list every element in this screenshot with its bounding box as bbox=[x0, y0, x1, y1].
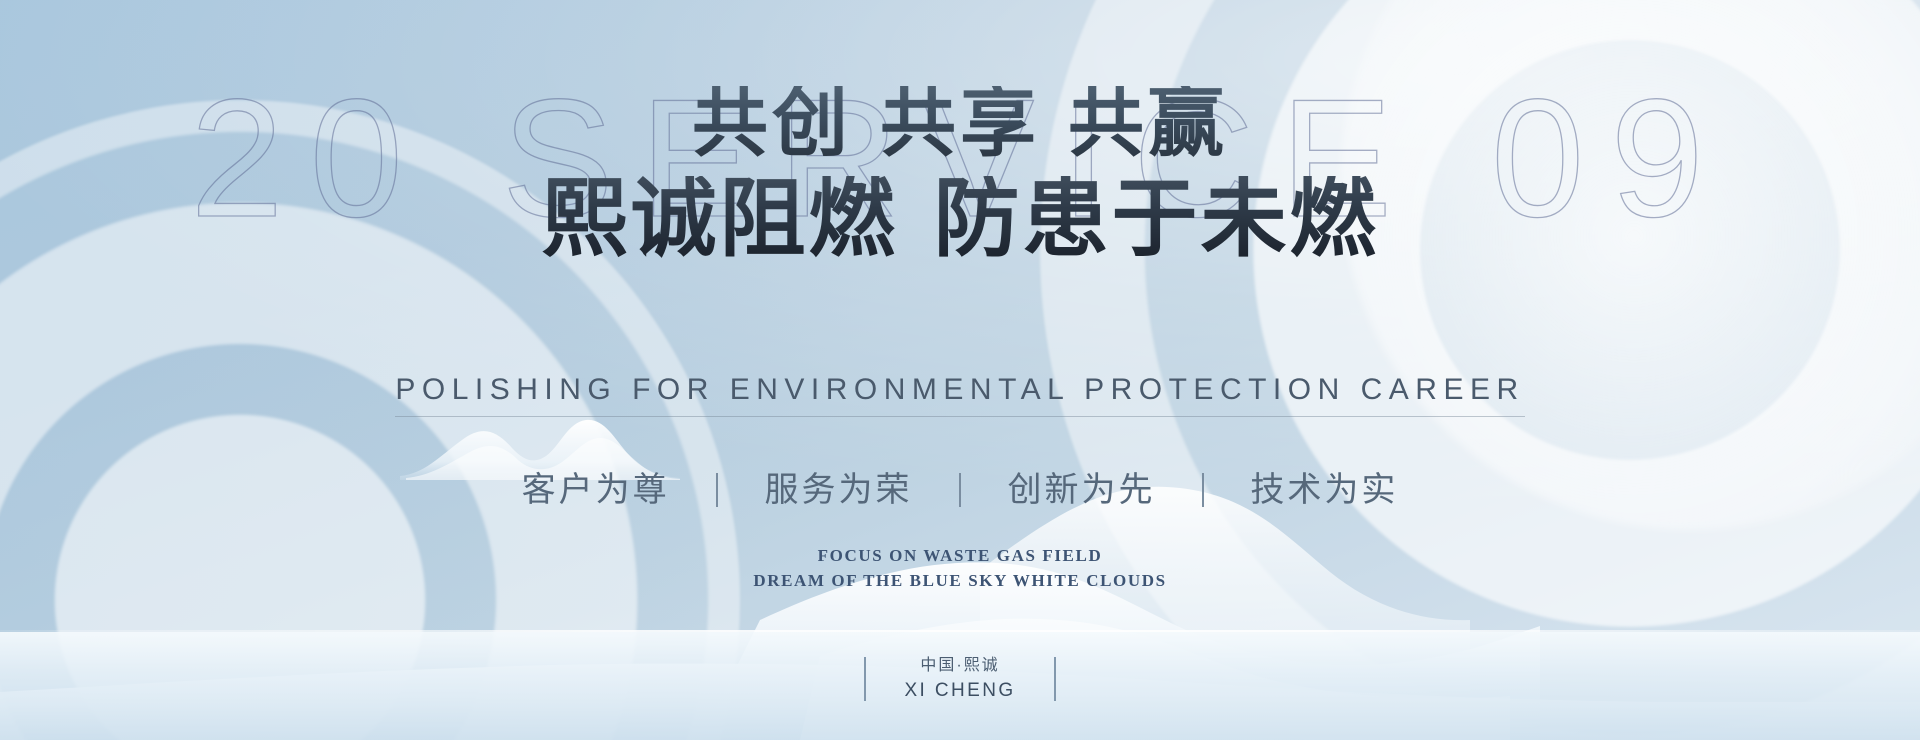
logo-divider-left bbox=[864, 657, 866, 701]
value-item-4: 技术为实 bbox=[1250, 462, 1398, 511]
value-item-1: 客户为尊 bbox=[522, 462, 670, 511]
value-separator-3 bbox=[1202, 473, 1204, 507]
headline-spacer bbox=[852, 82, 880, 166]
values-row: 客户为尊 服务为荣 创新为先 技术为实 bbox=[0, 462, 1920, 511]
logo-divider-right bbox=[1054, 657, 1056, 701]
floor-edge-line bbox=[0, 630, 1920, 632]
banner-root: 20 SERVICE 09 bbox=[0, 0, 1920, 740]
logo-english: XI CHENG bbox=[904, 678, 1015, 704]
tagline-container: POLISHING FOR ENVIRONMENTAL PROTECTION C… bbox=[0, 373, 1920, 417]
serif-tagline-block: FOCUS ON WASTE GAS FIELD DREAM OF THE BL… bbox=[0, 544, 1920, 593]
tagline-text: POLISHING FOR ENVIRONMENTAL PROTECTION C… bbox=[395, 373, 1524, 417]
value-separator-2 bbox=[959, 473, 961, 507]
headline-spacer bbox=[1040, 82, 1068, 166]
brand-logo: 中国·熙诚 XI CHENG bbox=[0, 654, 1920, 704]
headline-spacer bbox=[898, 171, 934, 267]
headline-secondary-part-1: 熙诚阻燃 bbox=[542, 171, 898, 267]
logo-chinese: 中国·熙诚 bbox=[904, 654, 1015, 678]
headline-primary: 共创共享共赢 bbox=[0, 86, 1920, 162]
headline-primary-part-3: 共赢 bbox=[1068, 82, 1228, 166]
serif-tagline-line-2: DREAM OF THE BLUE SKY WHITE CLOUDS bbox=[0, 569, 1920, 594]
value-separator-1 bbox=[716, 473, 718, 507]
headline-secondary-part-2: 防患于未燃 bbox=[934, 171, 1379, 267]
headline-secondary: 熙诚阻燃防患于未燃 bbox=[0, 176, 1920, 262]
headline-primary-part-1: 共创 bbox=[692, 82, 852, 166]
headline-primary-part-2: 共享 bbox=[880, 82, 1040, 166]
value-item-3: 创新为先 bbox=[1007, 462, 1155, 511]
value-item-2: 服务为荣 bbox=[765, 462, 913, 511]
serif-tagline-line-1: FOCUS ON WASTE GAS FIELD bbox=[0, 544, 1920, 569]
logo-text-block: 中国·熙诚 XI CHENG bbox=[904, 654, 1015, 704]
